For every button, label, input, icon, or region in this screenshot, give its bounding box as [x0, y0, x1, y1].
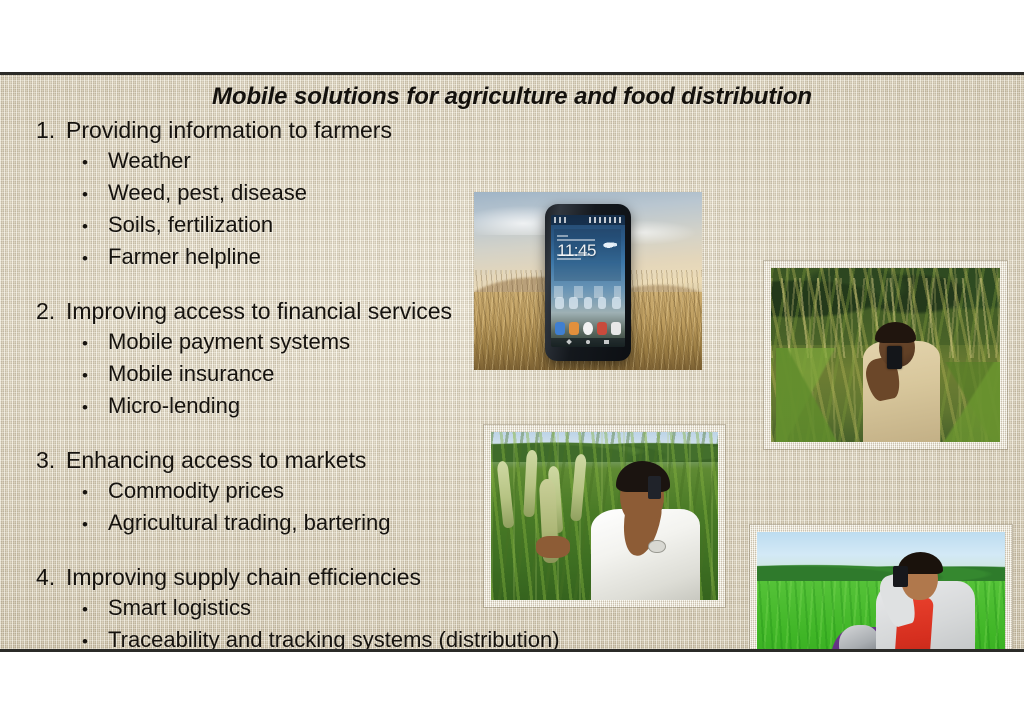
status-signal-battery-icons: [589, 217, 622, 222]
dock-icon-calendar: [611, 322, 621, 335]
bullet-icon: •: [82, 212, 108, 242]
app-icon: [555, 297, 564, 309]
app-icon: [598, 297, 607, 309]
bullet-text: Mobile insurance: [108, 359, 274, 389]
bullet-text: Weather: [108, 146, 191, 176]
mobile-phone-handset: [648, 476, 662, 500]
photo-woman-maize-field: [764, 261, 1007, 449]
widget-text-line: [557, 258, 581, 260]
outline-heading-1: 1. Providing information to farmers: [36, 115, 656, 146]
bullet-text: Traceability and tracking systems (distr…: [108, 625, 560, 652]
back-icon: [566, 339, 572, 345]
farmer-hand: [536, 536, 570, 558]
bullet-text: Smart logistics: [108, 593, 251, 623]
photo-woman-maize-field-content: [771, 268, 1000, 442]
maize-leaf: [776, 348, 868, 442]
widget-text-line: [557, 239, 595, 241]
bullet-icon: •: [82, 148, 108, 178]
slide-canvas: Mobile solutions for agriculture and foo…: [0, 72, 1024, 652]
outline-number-3: 3.: [36, 445, 66, 476]
bullet-icon: •: [82, 244, 108, 274]
bullet-text: Mobile payment systems: [108, 327, 350, 357]
smartphone-body: 11:45: [545, 204, 632, 361]
bullet-text: Agricultural trading, bartering: [108, 508, 390, 538]
status-notification-icons: [554, 217, 566, 222]
dock-icon-camera: [569, 322, 579, 335]
wristwatch: [648, 540, 666, 554]
motorcycle-headlamp: [839, 625, 879, 652]
outline-number-4: 4.: [36, 562, 66, 593]
home-screen-dock: [555, 322, 621, 335]
bullet-text: Soils, fertilization: [108, 210, 273, 240]
smartphone-screen: 11:45: [551, 215, 625, 347]
app-icon: [612, 297, 621, 309]
cloud-weather-icon: [603, 241, 616, 247]
photo-smartphone-wheat-field-content: 11:45: [474, 192, 702, 370]
mobile-phone-handset: [893, 566, 908, 587]
app-icon: [569, 297, 578, 309]
dock-icon-browser: [597, 322, 607, 335]
outline-heading-text-4: Improving supply chain efficiencies: [66, 562, 421, 593]
bullet-text: Micro-lending: [108, 391, 240, 421]
photo-farmer-motorcycle-paddy: [750, 525, 1012, 652]
phone-status-bar: [551, 215, 625, 224]
outline-number-1: 1.: [36, 115, 66, 146]
home-screen-app-row: [555, 297, 621, 309]
bullet-icon: •: [82, 510, 108, 540]
bullet-icon: •: [82, 478, 108, 508]
bullet-icon: •: [82, 361, 108, 391]
phone-navigation-bar: [551, 338, 625, 347]
bullet-icon: •: [82, 329, 108, 359]
dock-icon-apps: [583, 322, 593, 335]
bullet-icon: •: [82, 627, 108, 652]
mobile-phone-handset: [887, 346, 902, 369]
photo-farmer-millet-field-content: [491, 432, 718, 600]
weather-clock-widget: 11:45: [554, 229, 621, 282]
bullet-icon: •: [82, 180, 108, 210]
widget-text-line: [557, 235, 568, 237]
bullet-text: Commodity prices: [108, 476, 284, 506]
bullet-icon: •: [82, 393, 108, 423]
outline-heading-text-1: Providing information to farmers: [66, 115, 392, 146]
home-icon: [586, 340, 590, 344]
photo-farmer-motorcycle-paddy-content: [757, 532, 1005, 652]
slide-title: Mobile solutions for agriculture and foo…: [0, 83, 1024, 111]
app-icon: [584, 297, 593, 309]
widget-text-line: [557, 254, 589, 256]
list-item: • Weather: [36, 146, 656, 178]
list-item: • Micro-lending: [36, 391, 656, 423]
bullet-text: Farmer helpline: [108, 242, 261, 272]
photo-smartphone-wheat-field: 11:45: [474, 192, 702, 370]
bullet-icon: •: [82, 595, 108, 625]
bullet-text: Weed, pest, disease: [108, 178, 307, 208]
outline-number-2: 2.: [36, 296, 66, 327]
recents-icon: [604, 340, 608, 344]
dock-icon-messages: [555, 322, 565, 335]
outline-heading-text-2: Improving access to financial services: [66, 296, 452, 327]
photo-farmer-millet-field: [484, 425, 725, 607]
list-item: • Traceability and tracking systems (dis…: [36, 625, 656, 652]
outline-heading-text-3: Enhancing access to markets: [66, 445, 366, 476]
